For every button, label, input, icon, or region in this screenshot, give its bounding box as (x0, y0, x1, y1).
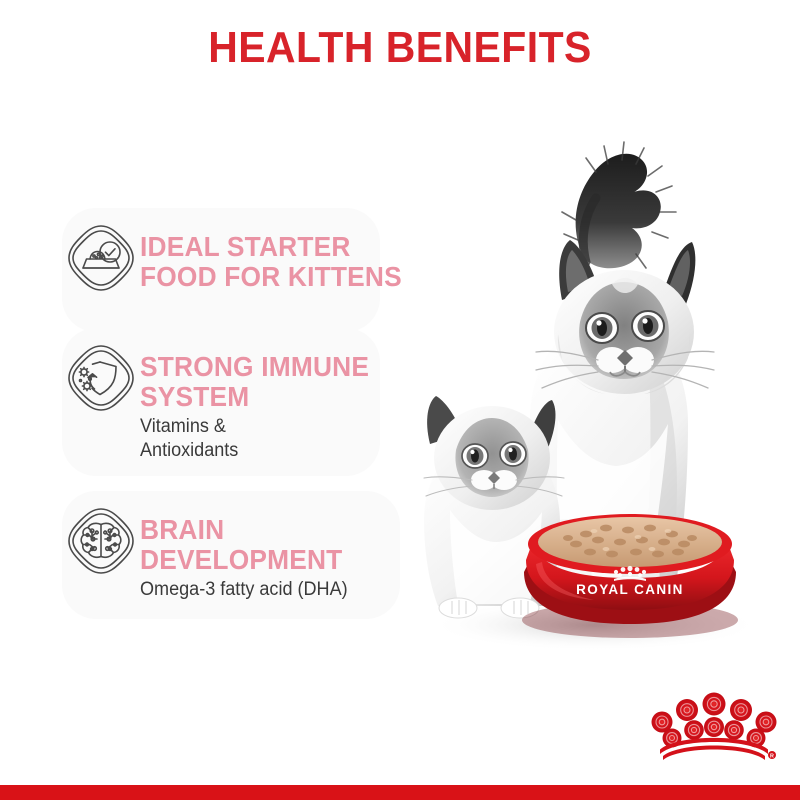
svg-text:ROYAL CANIN: ROYAL CANIN (576, 582, 684, 597)
page-title: HEALTH BENEFITS (28, 22, 772, 74)
registered-mark: R (770, 754, 774, 760)
benefit-text: STRONG IMMUNE SYSTEM Vitamins & Antioxid… (140, 336, 384, 463)
benefit-subtitle: Omega-3 fatty acid (DHA) (140, 578, 348, 602)
benefit-heading: BRAIN DEVELOPMENT (140, 515, 345, 575)
bottom-accent-bar (0, 785, 800, 800)
benefit-text: IDEAL STARTER FOOD FOR KITTENS (140, 216, 419, 295)
food-bowl-check-icon (62, 216, 140, 300)
benefit-item-strong-immune-system: STRONG IMMUNE SYSTEM Vitamins & Antioxid… (62, 336, 462, 463)
marketing-banner: HEALTH BENEFITS (0, 0, 800, 800)
immune-shield-icon (62, 336, 140, 420)
benefit-item-ideal-starter-food: IDEAL STARTER FOOD FOR KITTENS (62, 216, 462, 300)
royal-canin-crown-logo: R (650, 686, 778, 764)
benefit-text: BRAIN DEVELOPMENT Omega-3 fatty acid (DH… (140, 499, 359, 602)
benefit-item-brain-development: BRAIN DEVELOPMENT Omega-3 fatty acid (DH… (62, 499, 462, 602)
benefit-heading: STRONG IMMUNE SYSTEM (140, 352, 369, 412)
brain-icon (62, 499, 140, 583)
benefit-subtitle: Vitamins & Antioxidants (140, 415, 372, 463)
food-bowl: ROYAL CANIN (522, 514, 738, 638)
benefits-list: IDEAL STARTER FOOD FOR KITTENS (62, 216, 462, 638)
benefit-heading: IDEAL STARTER FOOD FOR KITTENS (140, 232, 402, 292)
